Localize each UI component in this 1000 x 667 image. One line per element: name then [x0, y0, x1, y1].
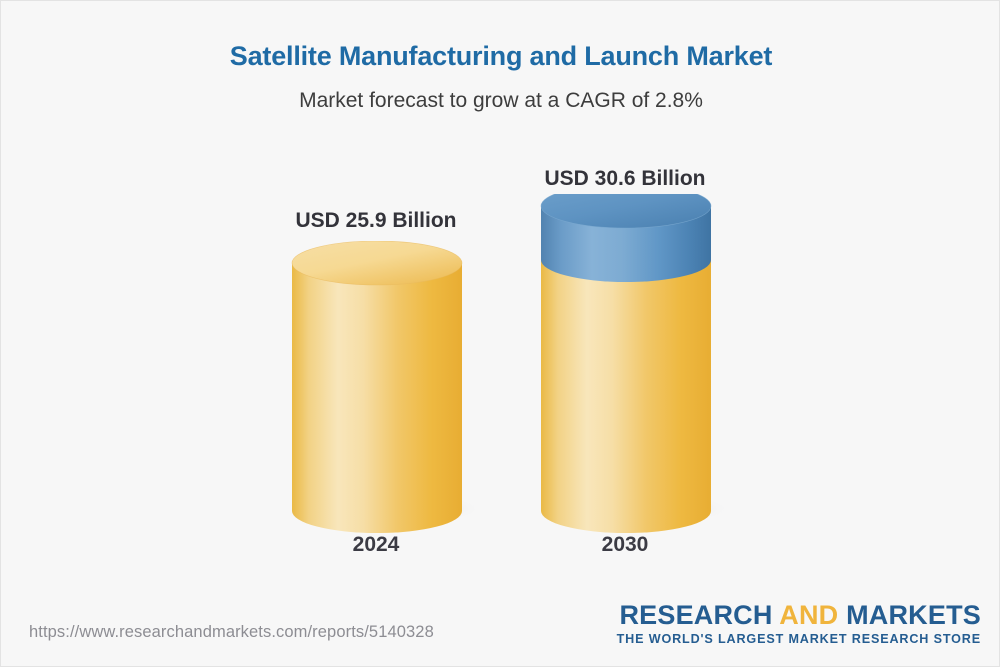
value-label-2030: USD 30.6 Billion: [465, 167, 785, 191]
cylinder-2024: [282, 241, 482, 541]
category-label-2030: 2030: [465, 533, 785, 557]
logo-tagline: THE WORLD'S LARGEST MARKET RESEARCH STOR…: [617, 632, 981, 646]
plot-area: USD 25.9 Billion: [1, 1, 1000, 601]
logo-wordmark: RESEARCH AND MARKETS: [617, 601, 981, 629]
chart-canvas: Satellite Manufacturing and Launch Marke…: [0, 0, 1000, 667]
source-url[interactable]: https://www.researchandmarkets.com/repor…: [29, 623, 434, 642]
researchandmarkets-logo: RESEARCH AND MARKETS THE WORLD'S LARGEST…: [617, 601, 981, 646]
logo-part-markets: MARKETS: [846, 600, 981, 630]
logo-part-and: AND: [779, 600, 838, 630]
logo-part-research: RESEARCH: [619, 600, 772, 630]
cylinder-2030: [531, 194, 731, 539]
value-label-2024: USD 25.9 Billion: [216, 209, 536, 233]
